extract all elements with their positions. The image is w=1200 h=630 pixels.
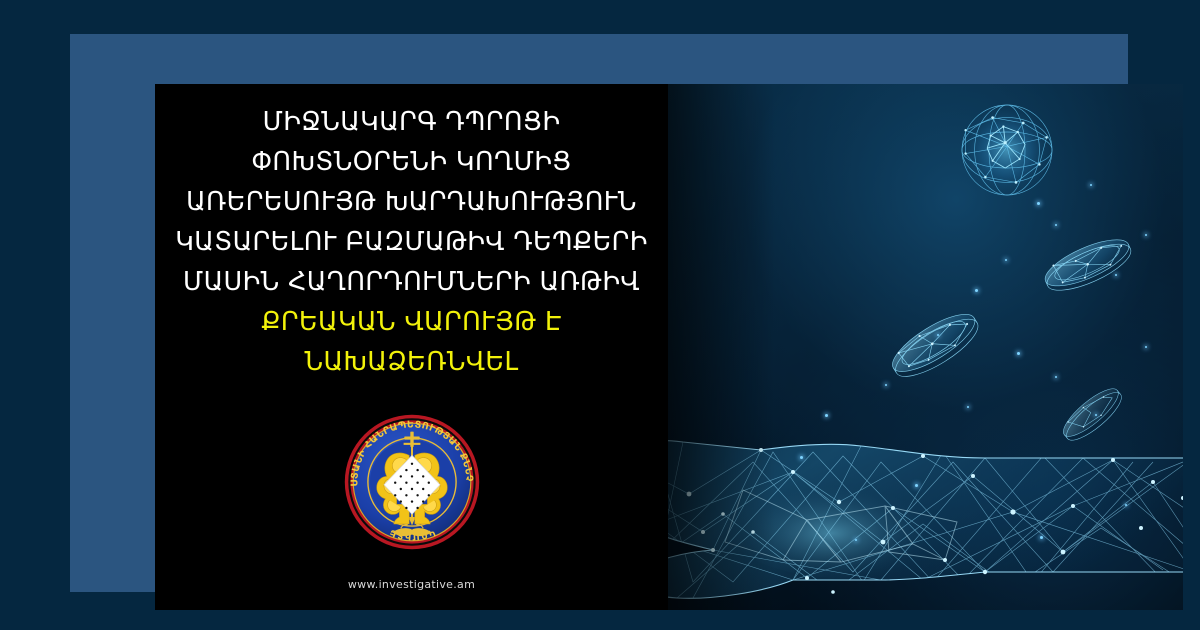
poster-canvas: ՄԻՋՆԱԿԱՐԳ ԴՊՐՈՑԻ ՓՈԽՏՆՕՐԵՆԻ ԿՈՂՄԻՑ ԱՌԵՐԵ…: [155, 84, 1183, 610]
headline-line-1: ՄԻՋՆԱԿԱՐԳ ԴՊՐՈՑԻ: [155, 102, 668, 142]
particle: [1125, 504, 1127, 506]
wireframe-hand-icon: [593, 402, 1183, 610]
headline-line-3: ԱՌԵՐԵՍՈՒՅԹ ԽԱՐԴԱԽՈՒԹՅՈՒՆ: [155, 182, 668, 222]
particle: [975, 289, 978, 292]
poster-frame: ՄԻՋՆԱԿԱՐԳ ԴՊՐՈՑԻ ՓՈԽՏՆՕՐԵՆԻ ԿՈՂՄԻՑ ԱՌԵՐԵ…: [70, 34, 1128, 592]
particle: [1115, 274, 1117, 276]
headline-line-5: ՄԱՍԻՆ ՀԱՂՈՐԴՈՒՄՆԵՐԻ ԱՌԹԻՎ: [155, 262, 668, 302]
particle: [1040, 536, 1043, 539]
investigative-committee-seal-icon: ՀԱՅԱՍՏԱՆԻ ՀԱՆՐԱՊԵՏՈՒԹՅԱՆ ՔՆՆՉԱԿԱՆ ԿՈՄԻՏԵ: [342, 412, 482, 552]
headline-line-4: ԿԱՏԱՐԵԼՈՒ ԲԱԶՄԱԹԻՎ ԴԵՊՔԵՐԻ: [155, 222, 668, 262]
headline-accent-line-1: ՔՐԵԱԿԱՆ ՎԱՐՈՒՅԹ Է: [155, 302, 668, 342]
headline-accent-line-2: ՆԱԽԱՁԵՌՆՎԵԼ: [155, 342, 668, 382]
particle: [885, 384, 887, 386]
particle: [1095, 414, 1097, 416]
particle: [800, 456, 803, 459]
text-panel: ՄԻՋՆԱԿԱՐԳ ԴՊՐՈՑԻ ՓՈԽՏՆՕՐԵՆԻ ԿՈՂՄԻՑ ԱՌԵՐԵ…: [155, 84, 668, 610]
particle: [855, 539, 857, 541]
particle: [1055, 224, 1057, 226]
particle: [1037, 202, 1040, 205]
falling-coin-icon: [1032, 217, 1145, 313]
falling-coin-icon: [875, 291, 995, 400]
poster: ՄԻՋՆԱԿԱՐԳ ԴՊՐՈՑԻ ՓՈԽՏՆՕՐԵՆԻ ԿՈՂՄԻՑ ԱՌԵՐԵ…: [0, 0, 1200, 630]
particle: [967, 406, 969, 408]
website-url: www.investigative.am: [155, 578, 668, 591]
particle: [1055, 376, 1057, 378]
particle: [937, 334, 939, 336]
headline-line-2: ՓՈԽՏՆՕՐԵՆԻ ԿՈՂՄԻՑ: [155, 142, 668, 182]
particle: [1090, 184, 1092, 186]
particle: [915, 484, 918, 487]
particle: [1145, 346, 1147, 348]
artwork-photo: [585, 84, 1183, 610]
headline: ՄԻՋՆԱԿԱՐԳ ԴՊՐՈՑԻ ՓՈԽՏՆՕՐԵՆԻ ԿՈՂՄԻՑ ԱՌԵՐԵ…: [155, 102, 668, 382]
particle: [1017, 352, 1020, 355]
wireframe-sphere-icon: [953, 96, 1061, 204]
particle: [1145, 234, 1147, 236]
particle: [1005, 259, 1007, 261]
particle: [825, 414, 828, 417]
